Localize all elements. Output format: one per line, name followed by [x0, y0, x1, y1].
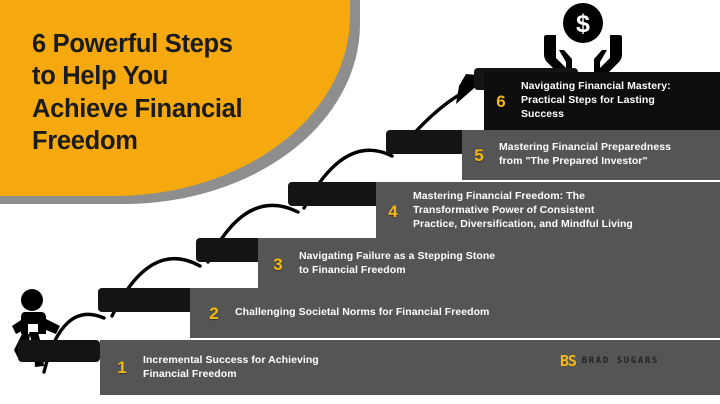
step-4-label-line-2: Transformative Power of Consistent	[413, 204, 633, 218]
step-4[interactable]: 4 Mastering Financial Freedom: The Trans…	[0, 182, 720, 244]
step-1-number: 1	[110, 359, 134, 376]
step-1-label-line-1: Incremental Success for Achieving	[143, 354, 319, 368]
step-3-label: Navigating Failure as a Stepping Stone t…	[290, 250, 495, 278]
svg-text:$: $	[576, 10, 590, 38]
step-5-label: Mastering Financial Preparedness from "T…	[490, 141, 671, 169]
hands-holding-dollar-coin-icon: $	[528, 2, 638, 76]
step-2[interactable]: 2 Challenging Societal Norms for Financi…	[0, 288, 720, 348]
step-2-number: 2	[202, 305, 226, 322]
brand-logo-name: BRAD SUGARS	[582, 356, 659, 366]
step-5-label-line-1: Mastering Financial Preparedness	[499, 141, 671, 155]
step-5-number: 5	[468, 147, 490, 164]
step-3-number: 3	[266, 256, 290, 273]
step-3-band: 3 Navigating Failure as a Stepping Stone…	[258, 238, 720, 290]
step-4-label-line-3: Practice, Diversification, and Mindful L…	[413, 218, 633, 232]
step-5-label-line-2: from "The Prepared Investor"	[499, 155, 671, 169]
brand-logo[interactable]: BS BRAD SUGARS	[560, 352, 659, 370]
step-4-number: 4	[382, 203, 404, 220]
step-6[interactable]: 6 Navigating Financial Mastery: Practica…	[0, 72, 720, 132]
step-6-band: 6 Navigating Financial Mastery: Practica…	[484, 72, 720, 130]
step-4-label-line-1: Mastering Financial Freedom: The	[413, 190, 633, 204]
step-6-label: Navigating Financial Mastery: Practical …	[512, 80, 671, 122]
brand-logo-mark: BS	[560, 352, 576, 370]
step-3[interactable]: 3 Navigating Failure as a Stepping Stone…	[0, 238, 720, 296]
step-6-label-line-2: Practical Steps for Lasting	[521, 94, 671, 108]
infographic-canvas: 6 Powerful Steps to Help You Achieve Fin…	[0, 0, 720, 404]
step-3-label-line-1: Navigating Failure as a Stepping Stone	[299, 250, 495, 264]
step-5[interactable]: 5 Mastering Financial Preparedness from …	[0, 130, 720, 188]
step-2-label: Challenging Societal Norms for Financial…	[226, 306, 489, 320]
step-6-label-line-1: Navigating Financial Mastery:	[521, 80, 671, 94]
step-3-label-line-2: to Financial Freedom	[299, 264, 495, 278]
step-4-band: 4 Mastering Financial Freedom: The Trans…	[376, 182, 720, 240]
step-5-band: 5 Mastering Financial Preparedness from …	[462, 130, 720, 180]
step-1[interactable]: 1 Incremental Success for Achieving Fina…	[0, 340, 720, 404]
step-2-label-line-1: Challenging Societal Norms for Financial…	[235, 306, 489, 320]
step-6-number: 6	[490, 93, 512, 110]
page-title-line-1: 6 Powerful Steps	[32, 28, 310, 60]
step-1-label-line-2: Financial Freedom	[143, 368, 319, 382]
step-4-label: Mastering Financial Freedom: The Transfo…	[404, 190, 633, 232]
step-6-label-line-3: Success	[521, 108, 671, 122]
step-1-label: Incremental Success for Achieving Financ…	[134, 354, 319, 382]
